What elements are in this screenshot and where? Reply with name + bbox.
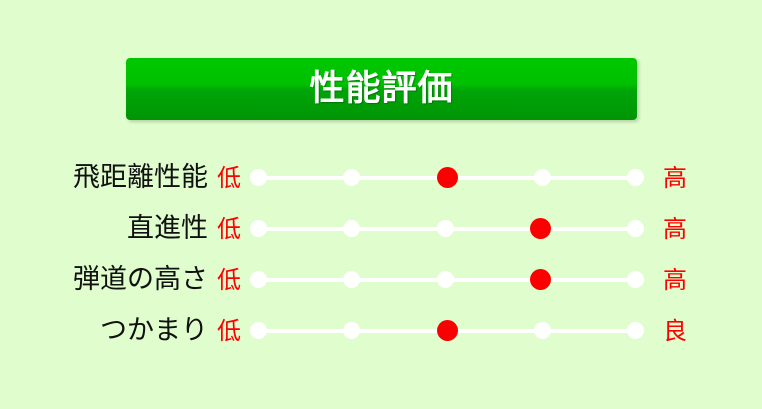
rating-high-caption: 高 [650, 217, 700, 241]
scale-dot-5[interactable] [627, 271, 644, 288]
scale-dot-2[interactable] [343, 271, 360, 288]
scale-dot-4-selected[interactable] [530, 269, 551, 290]
scale-dot-4[interactable] [534, 322, 551, 339]
rating-low-caption: 低 [208, 217, 250, 241]
rating-row-label: 弾道の高さ [0, 266, 208, 293]
rating-row-label: つかまり [0, 317, 208, 344]
scale-dot-1[interactable] [250, 220, 267, 237]
rating-high-caption: 良 [650, 319, 700, 343]
rating-scale [250, 319, 644, 343]
rating-scale [250, 268, 644, 292]
rating-row: 弾道の高さ 低 高 [0, 254, 762, 305]
performance-rating-panel: 性能評価 飛距離性能 低 高 直進性 低 [0, 0, 762, 409]
rating-scale [250, 217, 644, 241]
rating-scale [250, 166, 644, 190]
rating-low-caption: 低 [208, 166, 250, 190]
rating-row: 直進性 低 高 [0, 203, 762, 254]
rating-row: つかまり 低 良 [0, 305, 762, 356]
scale-dots [250, 319, 644, 343]
rating-low-caption: 低 [208, 268, 250, 292]
rating-high-caption: 高 [650, 268, 700, 292]
scale-dot-5[interactable] [627, 322, 644, 339]
scale-dots [250, 217, 644, 241]
rating-low-caption: 低 [208, 319, 250, 343]
rating-row-label: 直進性 [0, 215, 208, 242]
scale-dot-3-selected[interactable] [437, 167, 458, 188]
rating-row-label: 飛距離性能 [0, 164, 208, 191]
scale-dot-3[interactable] [437, 220, 454, 237]
scale-dot-1[interactable] [250, 322, 267, 339]
page-title: 性能評価 [309, 72, 453, 107]
scale-dot-2[interactable] [343, 220, 360, 237]
scale-dots [250, 166, 644, 190]
scale-dots [250, 268, 644, 292]
scale-dot-3-selected[interactable] [437, 320, 458, 341]
rating-rows: 飛距離性能 低 高 直進性 低 [0, 152, 762, 356]
scale-dot-4-selected[interactable] [530, 218, 551, 239]
header-banner: 性能評価 [126, 58, 637, 120]
scale-dot-1[interactable] [250, 271, 267, 288]
scale-dot-4[interactable] [534, 169, 551, 186]
scale-dot-5[interactable] [627, 220, 644, 237]
rating-row: 飛距離性能 低 高 [0, 152, 762, 203]
scale-dot-1[interactable] [250, 169, 267, 186]
rating-high-caption: 高 [650, 166, 700, 190]
scale-dot-2[interactable] [343, 322, 360, 339]
scale-dot-2[interactable] [343, 169, 360, 186]
scale-dot-5[interactable] [627, 169, 644, 186]
scale-dot-3[interactable] [437, 271, 454, 288]
